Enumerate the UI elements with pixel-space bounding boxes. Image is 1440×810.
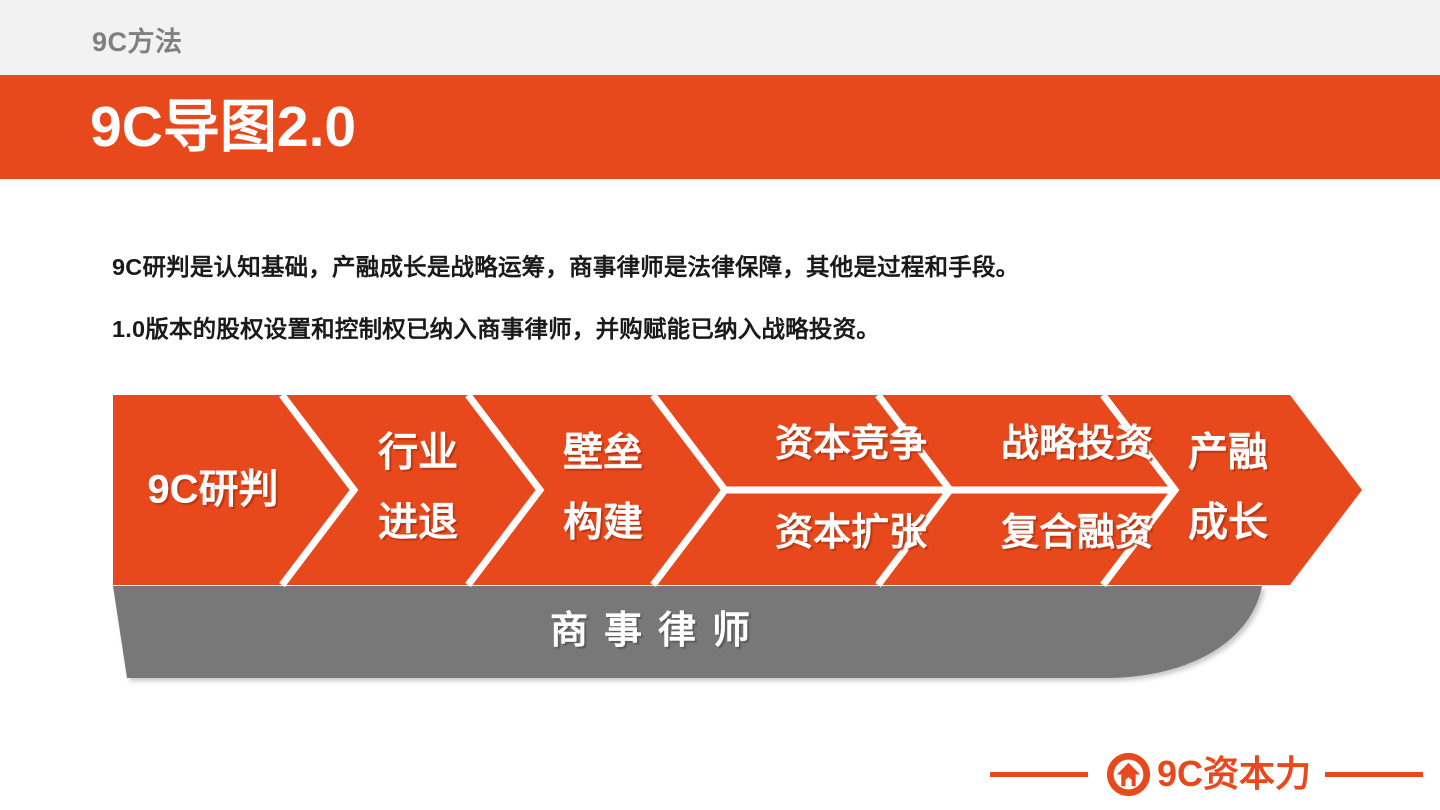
chevron-stage-4-top-label: 资本竞争: [775, 423, 927, 465]
chevron-stage-4-bottom-label: 资本扩张: [775, 512, 927, 554]
chevron-stage-1-label-line1: 9C研判: [147, 468, 278, 512]
logo-text: 9C资本力: [1157, 754, 1311, 794]
eyebrow-bar: 9C方法: [0, 0, 1440, 75]
chevron-stage-1[interactable]: 9C研判: [147, 468, 278, 512]
chevron-stage-2-label-line1: 行业: [378, 431, 458, 475]
chevron-stage-5-bottom-label: 复合融资: [1001, 512, 1153, 554]
chevron-stage-3-label-line1: 壁垒: [563, 431, 643, 475]
house-up-arrow-in-circle-icon: [1106, 752, 1151, 797]
footer-logo: 9C资本力: [990, 746, 1440, 802]
chevron-process-diagram: 商事律师 9C研判: [100, 380, 1370, 690]
diagram-base-label: 商事律师: [550, 610, 766, 652]
title-band: 9C导图2.0: [0, 75, 1440, 179]
chevron-stage-5-top-label: 战略投资: [1001, 423, 1153, 465]
chevron-bar: [113, 395, 1362, 585]
logo-rule-left: [990, 772, 1088, 777]
page-title: 9C导图2.0: [90, 96, 356, 158]
chevron-stage-4-bottom[interactable]: 资本扩张: [775, 512, 927, 554]
chevron-stage-6-label-line2: 成长: [1188, 501, 1268, 545]
eyebrow-label: 9C方法: [92, 20, 183, 59]
body-paragraph-2: 1.0版本的股权设置和控制权已纳入商事律师，并购赋能已纳入战略投资。: [112, 310, 880, 344]
chevron-stage-2-label-line2: 进退: [378, 501, 458, 545]
diagram-svg: 商事律师 9C研判: [100, 380, 1370, 690]
chevron-stage-5-top[interactable]: 战略投资: [1001, 423, 1153, 465]
chevron-stage-3-label-line2: 构建: [563, 501, 643, 545]
chevron-stage-5-bottom[interactable]: 复合融资: [1001, 512, 1153, 554]
chevron-stage-4-top[interactable]: 资本竞争: [775, 423, 927, 465]
logo-rule-right: [1325, 772, 1423, 777]
chevron-stage-6-label-line1: 产融: [1188, 431, 1268, 475]
body-paragraph-1: 9C研判是认知基础，产融成长是战略运筹，商事律师是法律保障，其他是过程和手段。: [112, 248, 1019, 282]
